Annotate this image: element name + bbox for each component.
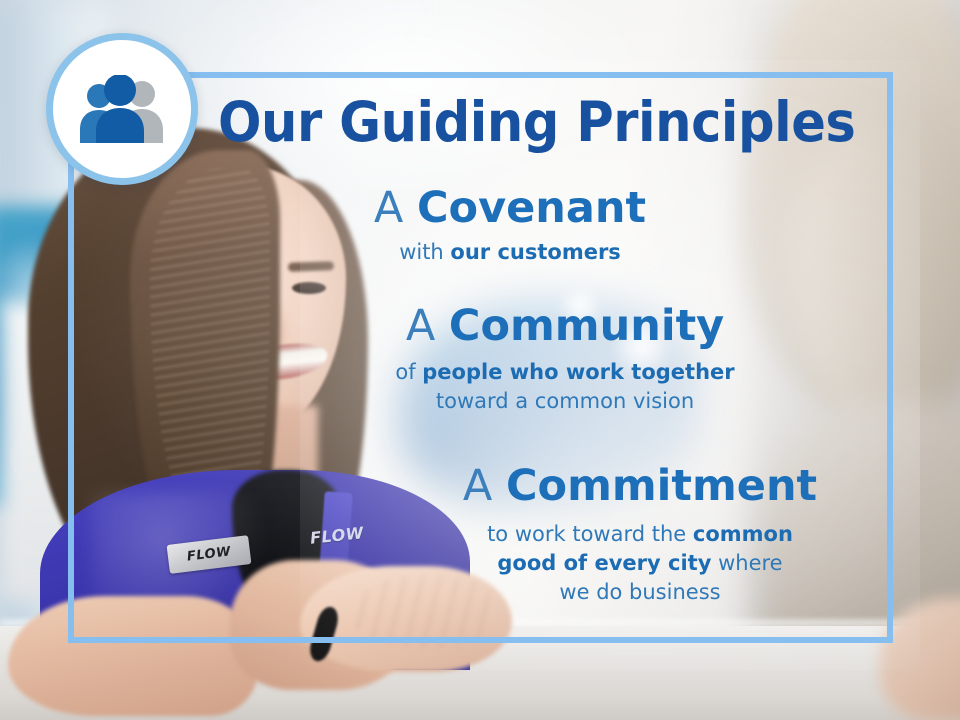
sub-bold: people who work together: [422, 360, 734, 384]
principle-community-sub-line: of people who work together: [330, 358, 800, 387]
principle-community: A Community of people who work together …: [330, 304, 800, 416]
sub-plain-before: with: [399, 240, 450, 264]
sub-plain-before: of: [395, 360, 422, 384]
principle-covenant-subtitle: with our customers: [300, 238, 720, 267]
sub-bold: good of every city: [497, 551, 711, 575]
principle-covenant-sub-line: with our customers: [300, 238, 720, 267]
principle-commitment-word: Commitment: [506, 461, 817, 511]
principle-community-subtitle: of people who work together toward a com…: [330, 358, 800, 416]
sub-bold: common: [693, 522, 793, 546]
sub-plain-before: we do business: [559, 580, 720, 604]
principle-community-title: A Community: [330, 304, 800, 350]
principle-community-sub-line: toward a common vision: [330, 387, 800, 416]
people-group-icon-badge: [46, 33, 198, 185]
principle-covenant: A Covenant with our customers: [300, 186, 720, 267]
principle-community-word: Community: [449, 301, 724, 351]
principle-commitment-sub-line: good of every city where: [390, 549, 890, 578]
sub-bold: our customers: [450, 240, 620, 264]
sub-plain-after: where: [711, 551, 782, 575]
principle-commitment-lead: A: [463, 461, 492, 511]
sub-plain-before: to work toward the: [487, 522, 693, 546]
principle-community-lead: A: [406, 301, 435, 351]
principle-commitment-sub-line: to work toward the common: [390, 520, 890, 549]
principle-commitment: A Commitment to work toward the common g…: [390, 464, 890, 606]
guiding-principles-graphic: FLOW FLOW: [0, 0, 960, 720]
principle-commitment-subtitle: to work toward the common good of every …: [390, 520, 890, 607]
principle-covenant-title: A Covenant: [300, 186, 720, 232]
principle-covenant-lead: A: [374, 183, 403, 233]
page-title: Our Guiding Principles: [218, 95, 832, 150]
people-group-icon: [74, 75, 170, 143]
principle-commitment-sub-line: we do business: [390, 578, 890, 607]
sub-plain-before: toward a common vision: [436, 389, 694, 413]
principle-covenant-word: Covenant: [417, 183, 646, 233]
principle-commitment-title: A Commitment: [390, 464, 890, 510]
